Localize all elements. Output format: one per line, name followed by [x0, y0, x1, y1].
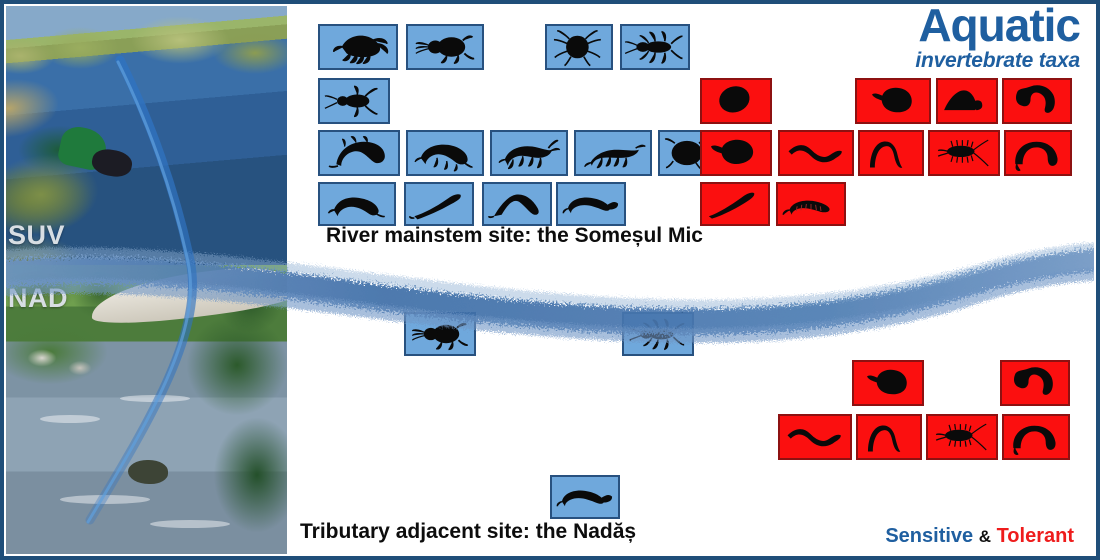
hook-worm-icon	[860, 132, 922, 174]
title-block: Aquatic invertebrate taxa	[915, 2, 1080, 73]
site-code-nad: NAD	[8, 283, 68, 314]
snail-oval-icon	[854, 362, 922, 404]
caddis-larva-icon	[320, 132, 398, 174]
taxon-card-mainstem-sensitive-2	[406, 24, 484, 70]
oligochaete-worm-icon	[780, 132, 852, 174]
taxon-card-mainstem-tolerant-9	[1004, 130, 1072, 176]
cranefly-larva-icon	[320, 184, 394, 224]
page-subtitle: invertebrate taxa	[915, 49, 1080, 73]
taxon-card-mainstem-sensitive-14	[556, 182, 626, 226]
rocks	[20, 340, 110, 380]
taxon-card-tributary-tolerant-2	[1000, 360, 1070, 406]
taxon-card-tributary-tolerant-6	[1002, 414, 1070, 460]
taxon-card-tributary-sensitive-1	[404, 312, 476, 356]
snail-round-icon	[702, 80, 770, 122]
stonefly-nymph-icon	[622, 26, 688, 68]
riffle	[60, 495, 150, 504]
riffle	[40, 415, 100, 423]
taxon-card-mainstem-sensitive-5	[318, 78, 390, 124]
taxon-card-mainstem-sensitive-12	[404, 182, 474, 226]
hook-worm-icon	[858, 416, 920, 458]
taxon-card-mainstem-tolerant-1	[700, 78, 772, 124]
taxon-card-mainstem-sensitive-11	[318, 182, 396, 226]
leech-icon	[1004, 80, 1070, 122]
taxon-card-mainstem-sensitive-13	[482, 182, 552, 226]
midge-larva-icon	[778, 184, 844, 224]
taxon-card-tributary-tolerant-1	[852, 360, 924, 406]
leech-icon	[1002, 362, 1068, 404]
taxon-card-mainstem-tolerant-3	[936, 78, 998, 124]
thin-worm-icon	[702, 184, 768, 224]
snail-oval-icon	[857, 80, 929, 122]
taxon-card-mainstem-tolerant-11	[776, 182, 846, 226]
taxon-card-mainstem-tolerant-6	[778, 130, 854, 176]
blackfly-larva-icon	[558, 184, 624, 224]
taxon-card-mainstem-tolerant-5	[700, 130, 772, 176]
taxon-card-mainstem-tolerant-8	[928, 130, 1000, 176]
tributary-photo: NAD	[0, 265, 287, 560]
taxon-card-mainstem-sensitive-1	[318, 24, 398, 70]
taxon-card-mainstem-sensitive-8	[490, 130, 568, 176]
taxon-card-mainstem-sensitive-7	[406, 130, 484, 176]
section-caption-tributary: Tributary adjacent site: the Nadăș	[300, 520, 636, 544]
limpet-icon	[938, 80, 996, 122]
river-mainstem-photo: SUV	[0, 0, 287, 265]
mayfly-nymph-icon	[408, 26, 482, 68]
taxon-card-mainstem-sensitive-4	[620, 24, 690, 70]
riffle	[150, 520, 230, 528]
legend-tolerant-label: Tolerant	[997, 525, 1074, 547]
water-boatman-icon	[320, 80, 388, 122]
oligochaete-worm-icon	[780, 416, 850, 458]
taxon-card-mainstem-tolerant-4	[1002, 78, 1072, 124]
taxon-card-tributary-sensitive-3	[550, 475, 620, 519]
curved-leech-icon	[1006, 132, 1070, 174]
dobsonfly-larva-icon	[492, 132, 566, 174]
vegetation-right	[147, 305, 287, 555]
legend-separator: &	[979, 527, 991, 546]
water-louse-icon	[930, 132, 998, 174]
water-mite-icon	[547, 26, 611, 68]
riffle-beetle-larva-icon	[408, 132, 482, 174]
slide-canvas: SUV NAD Aquatic invertebrate taxa	[0, 0, 1100, 560]
blackfly-larva-icon	[552, 477, 618, 517]
amphipod-icon	[320, 26, 396, 68]
taxon-card-tributary-tolerant-5	[926, 414, 998, 460]
taxon-card-tributary-tolerant-3	[778, 414, 852, 460]
stonefly-nymph-icon	[624, 314, 692, 354]
site-code-suv: SUV	[8, 220, 65, 251]
taxon-card-mainstem-sensitive-3	[545, 24, 613, 70]
mayfly-nymph-icon	[406, 314, 474, 354]
legend: Sensitive & Tolerant	[885, 525, 1074, 548]
bent-larva-icon	[484, 184, 550, 224]
taxon-card-mainstem-tolerant-2	[855, 78, 931, 124]
page-title: Aquatic	[915, 2, 1080, 48]
taxon-card-tributary-tolerant-4	[856, 414, 922, 460]
taxon-card-mainstem-tolerant-7	[858, 130, 924, 176]
midstream-rock	[128, 460, 168, 484]
taxon-card-mainstem-sensitive-6	[318, 130, 400, 176]
alderfly-larva-icon	[576, 132, 650, 174]
taxon-card-mainstem-tolerant-10	[700, 182, 770, 226]
taxon-card-tributary-sensitive-2	[622, 312, 694, 356]
section-caption-mainstem: River mainstem site: the Someșul Mic	[326, 224, 703, 248]
legend-sensitive-label: Sensitive	[885, 525, 973, 547]
riffle	[120, 395, 190, 402]
water-louse-icon	[928, 416, 996, 458]
bivalve-icon	[702, 132, 770, 174]
taxon-card-mainstem-sensitive-9	[574, 130, 652, 176]
curved-leech-icon	[1004, 416, 1068, 458]
worm-larva-icon	[406, 184, 472, 224]
